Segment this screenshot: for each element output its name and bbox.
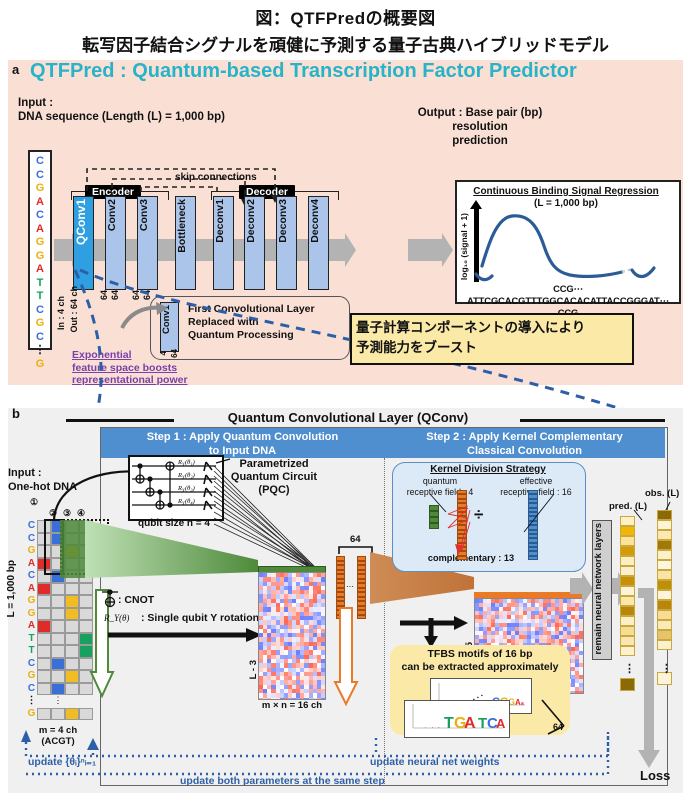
onehot-cell [51,583,65,596]
obs-ellipsis: ⋮ [661,662,672,675]
onehot-cell [37,633,51,646]
onehot-cell [79,683,93,696]
obs-col-cell [657,510,672,520]
callout-line1: 量子計算コンポーネントの導入により [356,316,585,336]
heatmap-16ch [258,572,326,700]
onehot-row-label: C [26,533,37,546]
onehot-cell [37,645,51,658]
onehot-ellipsis-cell [79,695,93,708]
dna-base-6: G [36,236,45,250]
onehot-row-label: ⋮ [26,695,37,708]
step2-line2: Classical Convolution [384,444,665,458]
heatmap1-axis-label: L - 3 [248,660,259,679]
remain-nn-layers-label: remain neural network layers [593,523,611,654]
pred-col-cell [620,546,635,556]
plot-y-axis [474,208,479,282]
onehot-row: T [26,633,93,646]
input-label-line1: Input : [18,96,225,110]
pred-col-cell [620,636,635,646]
kds-connector-lines [408,484,578,562]
input-label-line2: DNA sequence (Length (L) = 1,000 bp) [18,110,225,124]
onehot-L-axis-label: L = 1,000 bp [6,560,17,617]
panel-b-letter: b [12,406,20,421]
pred-col-cell [620,526,635,536]
pqc-circuit-box: R Y (θ₁) R Y (θ₂) R Y (θ₃) R Y (θ₄) [128,455,224,521]
onehot-cell [65,670,79,683]
onehot-row: T [26,645,93,658]
callout-line2: 予測能力をブースト [356,336,477,356]
layer-qconv1-label: QConv1 [74,199,93,245]
layer-conv3-label: Conv3 [138,199,157,231]
tfbs-text: TFBS motifs of 16 bp can be extracted ap… [392,648,568,674]
cnot-icon [100,588,120,608]
svg-text:a: a [521,701,524,707]
onehot-cell [51,645,65,658]
onehot-cell [51,658,65,671]
layer-bottleneck-label: Bottleneck [176,199,195,253]
plot-title: Continuous Binding Signal Regression [462,186,670,197]
onehot-cell [65,658,79,671]
ch64-label: 64 [350,534,361,545]
remain-nn-layers-box[interactable]: remain neural network layers [592,520,612,660]
onehot-cell [37,620,51,633]
output-label-line2: prediction [395,134,565,148]
update-theta-label: update {θᵢ}ⁿᵢ₌₁ [28,756,96,768]
dna-base-0: C [36,155,44,169]
layer-deconv3-label: Deconv3 [277,199,296,243]
orange-kernel-column [357,556,366,619]
onehot-cell [79,595,93,608]
onehot-row-label: C [26,658,37,671]
onehot-row-label: C [26,570,37,583]
onehot-cell [79,583,93,596]
flow-arrow-to-rnn [570,578,582,594]
pred-col-cell [620,556,635,566]
onehot-row-label: C [26,520,37,533]
onehot-cell [65,583,79,596]
plot-signal-curve [482,206,672,284]
panel-a-letter: a [12,62,19,77]
update-both-label: update both parameters at the same step [180,775,385,787]
step2-down-arrow [424,618,438,648]
column-number-1: ① [30,497,38,508]
pred-col-cell [620,626,635,636]
onehot-row: A [26,620,93,633]
onehot-cell [65,595,79,608]
step2-header: Step 2 : Apply Kernel Complementary Clas… [384,428,665,458]
legend-cnot-label: : CNOT [118,594,154,606]
onehot-cell [51,595,65,608]
pred-col-cell [620,586,635,596]
pred-col-cell [620,566,635,576]
onehot-cell [79,633,93,646]
onehot-ellipsis-cell [65,695,79,708]
svg-text:(θ₂): (θ₂) [185,472,195,479]
panel-a-title: QTFPred : Quantum-based Transcription Fa… [30,60,577,83]
panel-b-title: Quantum Convolutional Layer (QConv) [176,410,520,425]
kds-title: Kernel Division Strategy [396,464,580,475]
heatmap-cell [579,691,583,694]
pred-col-last-cell [620,678,635,691]
title-line-1: 図：QTFPredの概要図 [0,4,691,29]
onehot-cell [51,620,65,633]
onehot-cell [51,683,65,696]
onehot-row-label: G [26,608,37,621]
theta-update-arrow [86,738,100,758]
onehot-row-label: C [26,683,37,696]
dna-base-2: G [36,182,45,196]
onehot-row: ⋮⋮ [26,695,93,708]
obs-col-cell [657,520,672,530]
legend-ry-symbol: R_Y(θ) [104,613,129,623]
pred-col-cell [620,616,635,626]
legend-ry-label: : Single qubit Y rotation [141,612,259,624]
onehot-cell [51,670,65,683]
svg-text:(θ₁): (θ₁) [185,459,195,466]
onehot-row-label: A [26,583,37,596]
step2-line1: Step 2 : Apply Kernel Complementary [384,430,665,444]
onehot-cell [79,608,93,621]
pred-col-cell [620,576,635,586]
onehot-cell [65,633,79,646]
pred-col-cell [620,516,635,526]
orange-kernel-cell [357,615,366,620]
layer-deconv4-label: Deconv4 [309,199,328,243]
onehot-ellipsis-cell [37,695,51,708]
onehot-cell [79,658,93,671]
onehot-cell [79,620,93,633]
panel-a-input-label: Input : DNA sequence (Length (L) = 1,000… [18,96,225,124]
obs-col-cell [657,550,672,560]
step1-line1: Step 1 : Apply Quantum Convolution [101,430,384,444]
onehot-cell [37,670,51,683]
onehot-row: C [26,683,93,696]
heatmap1-caption: m × n = 16 ch [252,700,332,711]
onehot-cell [37,683,51,696]
flow-arrow-to-pred [612,578,618,594]
onehot-cell [51,633,65,646]
step1-header: Step 1 : Apply Quantum Convolution to In… [101,428,384,458]
obs-col-cell [657,540,672,550]
output-label-line1: Output : Base pair (bp) resolution [395,106,565,134]
dna-base-4: C [36,209,44,223]
panel-a-output-label: Output : Base pair (bp) resolution predi… [395,106,565,148]
onehot-cell [65,608,79,621]
onehot-row: G [26,608,93,621]
pred-ellipsis: ⋮ [624,662,635,675]
update-weights-label: update neural net weights [370,756,500,768]
obs-col-cell [657,530,672,540]
svg-text:(θ₄): (θ₄) [185,498,195,505]
plot-y-axis-label: log₁₀ (signal + 1) [459,213,469,280]
dna-base-1: C [36,169,44,183]
onehot-cell [65,683,79,696]
layer-deconv1-label: Deconv1 [214,199,233,243]
onehot-cell [37,608,51,621]
obs-label: obs. (L) [645,488,679,499]
orange-cols-ellipsis: ⋯ [346,582,354,591]
layer-conv2-label: Conv2 [106,199,125,231]
pred-col-cell [620,646,635,656]
step1-flow-arrow [108,628,264,642]
dna-base-3: A [36,196,44,210]
qconv-title-rule-right [520,419,665,422]
onehot-cell [65,645,79,658]
layer-deconv2-label: Deconv2 [245,199,264,243]
orange-down-arrow [336,608,358,708]
pqc-circuit-svg: R Y (θ₁) R Y (θ₂) R Y (θ₃) R Y (θ₄) [130,457,218,515]
onehot-cell [37,595,51,608]
skip-connections-label: skip connections [175,172,257,183]
qconv-title-rule-left [66,419,174,422]
svg-text:(θ₃): (θ₃) [185,485,195,492]
onehot-cell [37,658,51,671]
onehot-row-label: G [26,595,37,608]
onehot-row: C [26,658,93,671]
tfbs-line2: can be extracted approximately [392,661,568,674]
onehot-ellipsis-cell: ⋮ [51,695,65,708]
figure-root: 図：QTFPredの概要図 転写因子結合シグナルを頑健に予測する量子古典ハイブリ… [0,0,691,800]
onehot-row-label: G [26,545,37,558]
tfbs-line1: TFBS motifs of 16 bp [392,648,568,661]
onehot-row: G [26,670,93,683]
green-kernel-wedge [60,520,265,582]
onehot-row: A [26,583,93,596]
obs-col-cell [657,560,672,570]
pred-col-cell [620,536,635,546]
title-line-2: 転写因子結合シグナルを頑健に予測する量子古典ハイブリッドモデル [0,31,691,56]
onehot-row-label: A [26,620,37,633]
pred-col-cell [620,606,635,616]
pred-col-cell [620,596,635,606]
onehot-row-label: A [26,558,37,571]
onehot-row-label: G [26,670,37,683]
onehot-row-label: T [26,633,37,646]
onehot-cell [51,608,65,621]
figure-title: 図：QTFPredの概要図 転写因子結合シグナルを頑健に予測する量子古典ハイブリ… [0,4,691,56]
onehot-cell [65,620,79,633]
onehot-row: G [26,595,93,608]
obs-col-cell [657,570,672,580]
svg-text:▪: ▪ [481,693,483,699]
onehot-cell [79,645,93,658]
onehot-cell [37,583,51,596]
onehot-row-label: T [26,645,37,658]
dna-base-5: A [36,223,44,237]
